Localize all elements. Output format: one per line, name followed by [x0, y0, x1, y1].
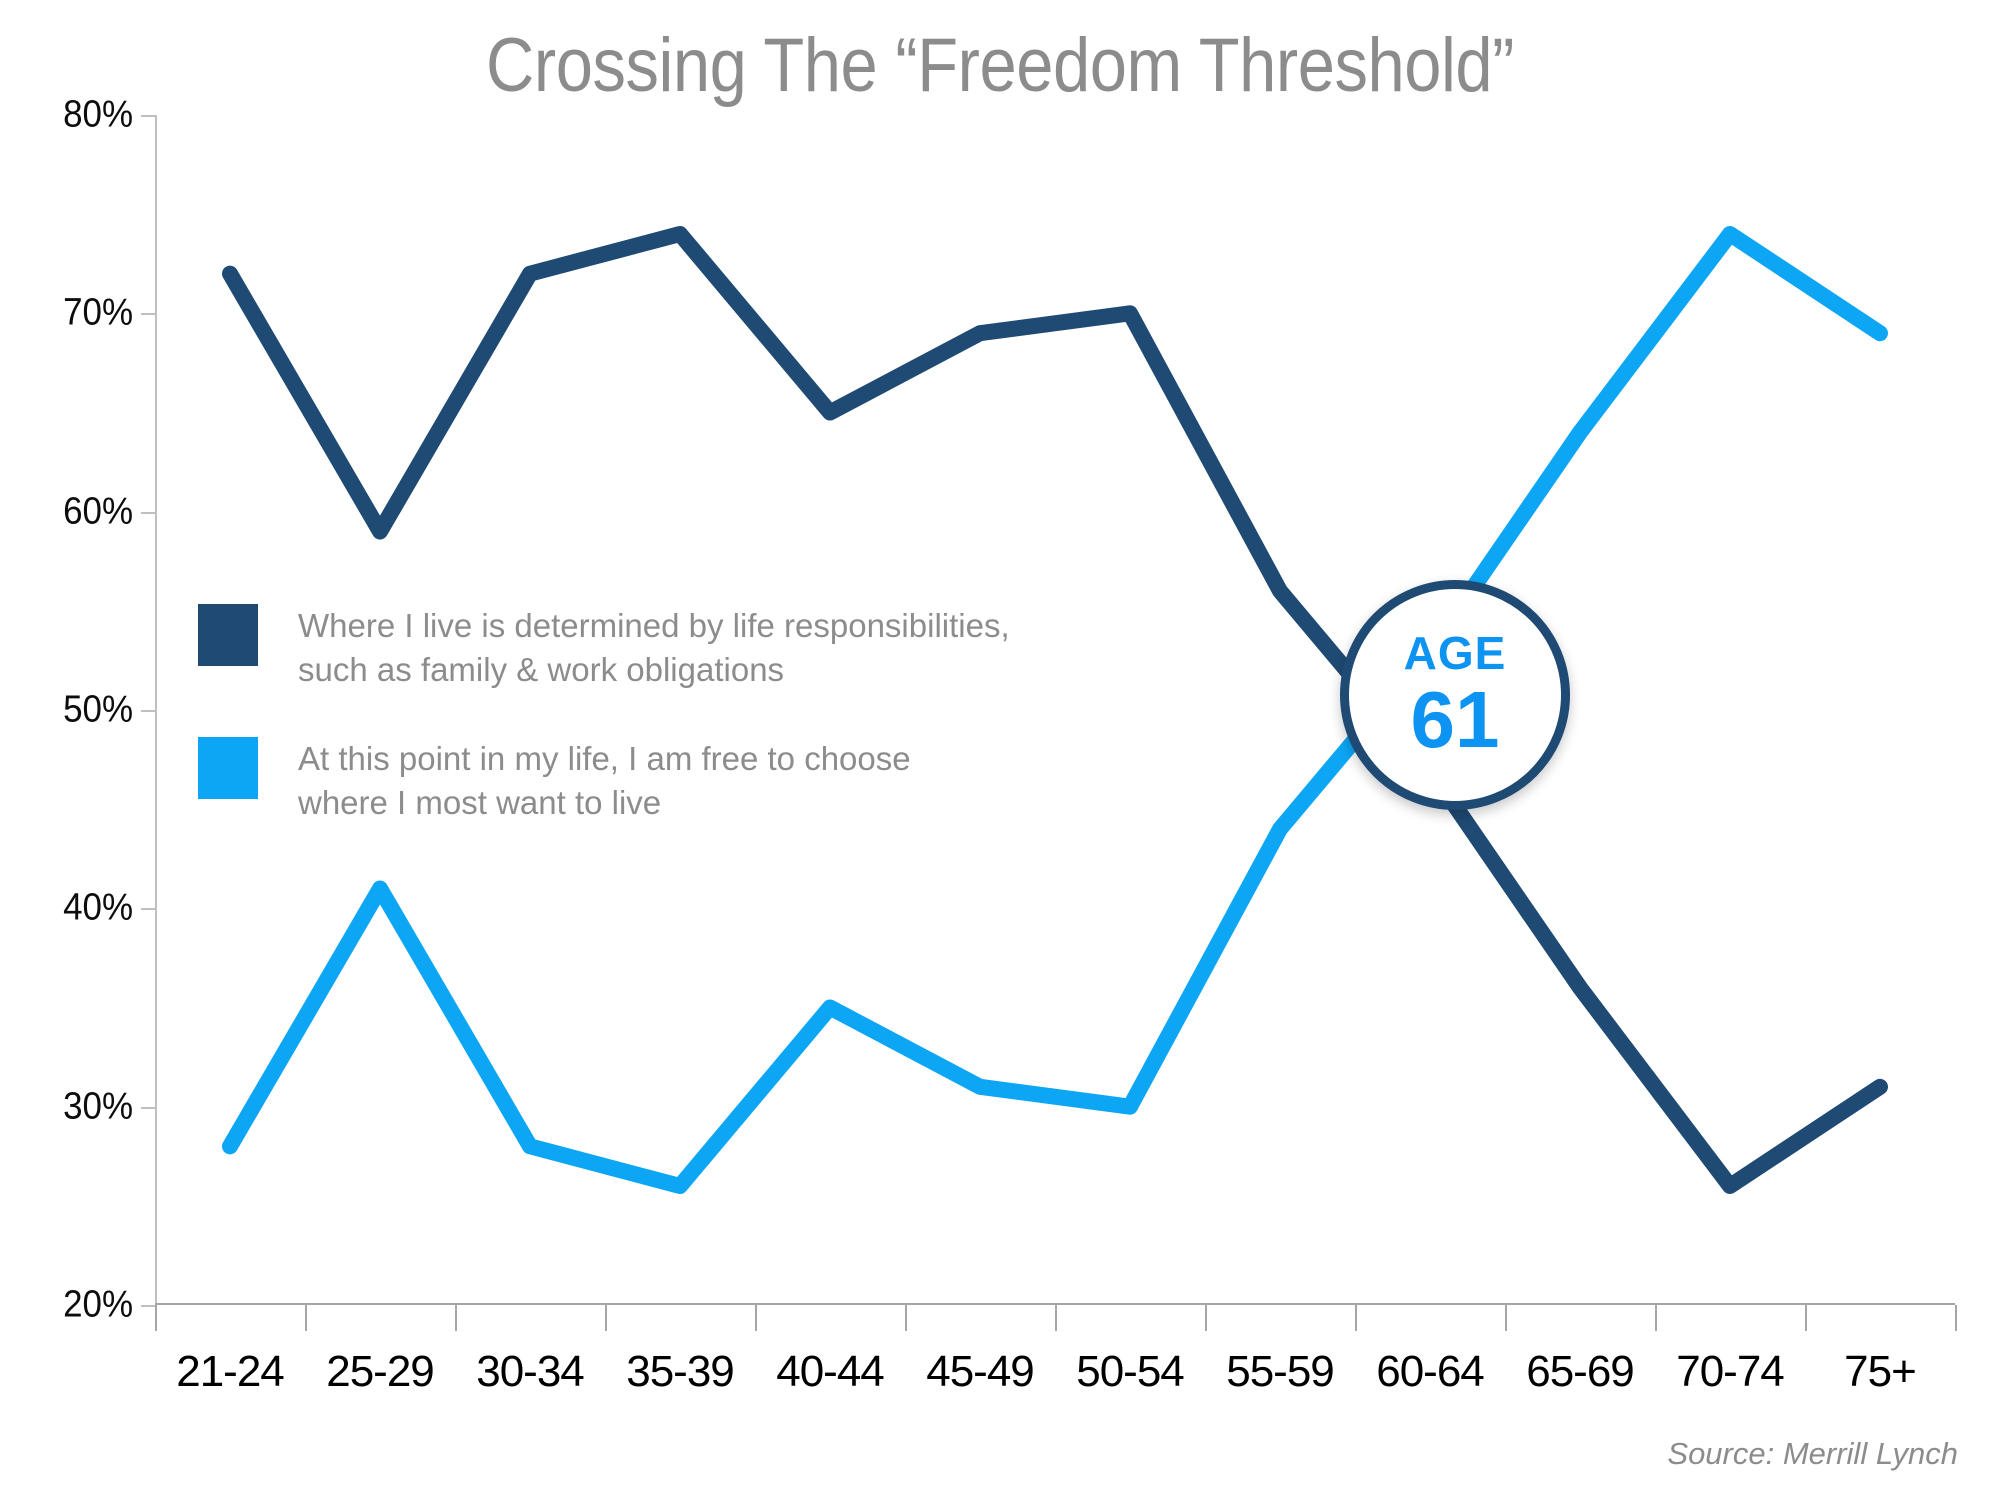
y-axis-tick	[141, 1305, 155, 1307]
chart-canvas: Crossing The “Freedom Threshold” 20%30%4…	[0, 0, 2000, 1500]
x-axis-label: 40-44	[776, 1347, 884, 1397]
chart-legend: Where I live is determined by life respo…	[198, 600, 1098, 866]
x-axis-tick	[305, 1305, 307, 1331]
y-axis-label: 40%	[63, 887, 133, 930]
y-axis-label: 30%	[63, 1085, 133, 1128]
x-axis-label: 60-64	[1376, 1347, 1484, 1397]
x-axis-tick	[455, 1305, 457, 1331]
x-axis-tick	[1055, 1305, 1057, 1331]
x-axis-tick	[905, 1305, 907, 1331]
y-axis-label: 80%	[63, 94, 133, 137]
x-axis-tick	[155, 1305, 157, 1331]
x-axis-label: 75+	[1844, 1347, 1916, 1397]
legend-item-responsibilities: Where I live is determined by life respo…	[198, 600, 1098, 691]
legend-swatch-navy	[198, 604, 258, 666]
y-axis-tick	[141, 908, 155, 910]
y-axis-tick	[141, 512, 155, 514]
x-axis-label: 55-59	[1226, 1347, 1334, 1397]
legend-label-freedom: At this point in my life, I am free to c…	[298, 733, 911, 824]
x-axis-label: 30-34	[476, 1347, 584, 1397]
x-axis-label: 65-69	[1526, 1347, 1634, 1397]
age-threshold-badge: AGE 61	[1340, 580, 1570, 810]
x-axis-tick	[1955, 1305, 1957, 1331]
x-axis-tick	[1805, 1305, 1807, 1331]
x-axis-tick	[755, 1305, 757, 1331]
y-axis-label: 50%	[63, 689, 133, 732]
x-axis-label: 25-29	[326, 1347, 434, 1397]
source-attribution: Source: Merrill Lynch	[1667, 1436, 1958, 1472]
y-axis-tick	[141, 313, 155, 315]
x-axis-tick	[1505, 1305, 1507, 1331]
x-axis-label: 21-24	[176, 1347, 284, 1397]
x-axis-tick	[1655, 1305, 1657, 1331]
legend-item-freedom: At this point in my life, I am free to c…	[198, 733, 1098, 824]
x-axis-tick	[605, 1305, 607, 1331]
x-axis-tick	[1205, 1305, 1207, 1331]
legend-label-responsibilities: Where I live is determined by life respo…	[298, 600, 1010, 691]
chart-title: Crossing The “Freedom Threshold”	[120, 28, 1880, 104]
x-axis-label: 70-74	[1676, 1347, 1784, 1397]
y-axis-label: 70%	[63, 292, 133, 335]
x-axis-label: 35-39	[626, 1347, 734, 1397]
x-axis-tick	[1355, 1305, 1357, 1331]
age-badge-value: 61	[1411, 680, 1500, 760]
y-axis-label: 60%	[63, 490, 133, 533]
y-axis-label: 20%	[63, 1284, 133, 1327]
age-badge-label: AGE	[1404, 630, 1507, 676]
y-axis-tick	[141, 710, 155, 712]
legend-swatch-lightblue	[198, 737, 258, 799]
x-axis-label: 50-54	[1076, 1347, 1184, 1397]
y-axis-tick	[141, 1107, 155, 1109]
x-axis-label: 45-49	[926, 1347, 1034, 1397]
y-axis-tick	[141, 115, 155, 117]
